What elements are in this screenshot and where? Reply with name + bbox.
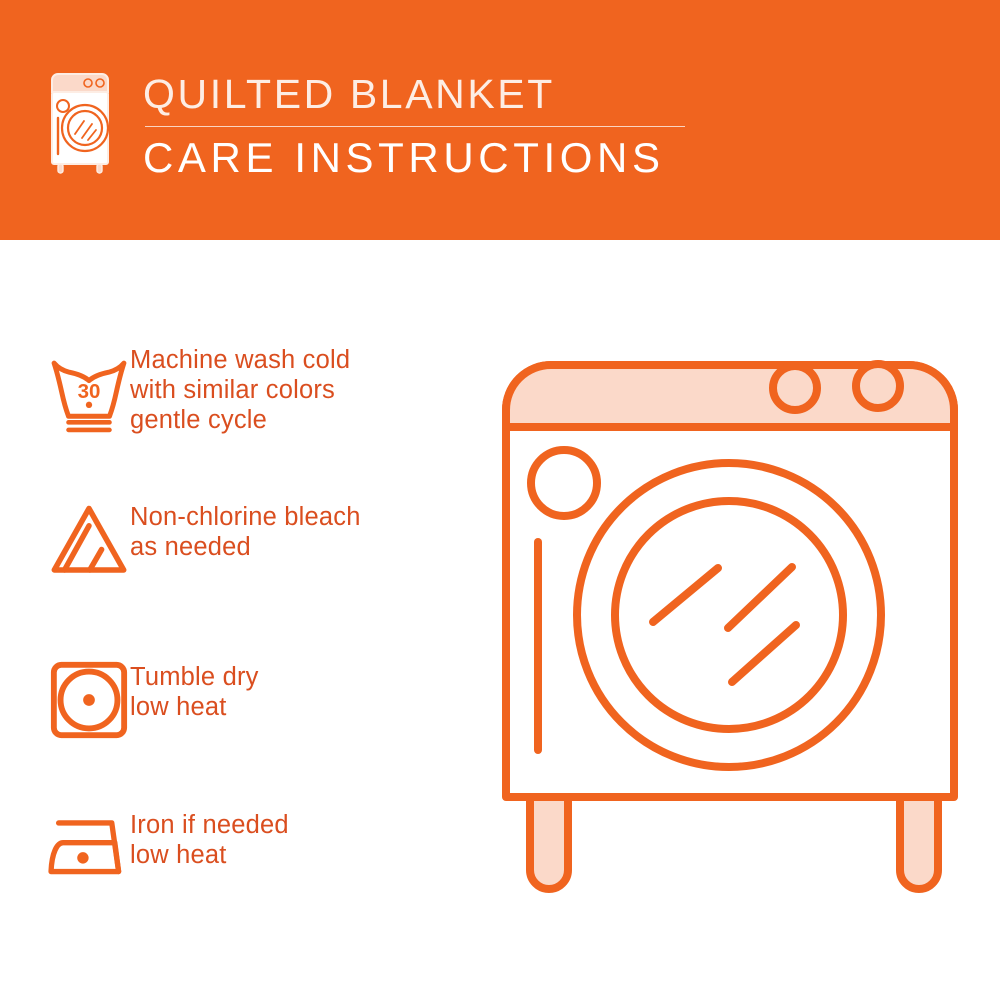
iron-low-heat-icon xyxy=(0,788,130,908)
care-item-bleach-text: Non-chlorine bleach as needed xyxy=(130,480,361,562)
care-text-line: as needed xyxy=(130,532,361,562)
care-item-wash-text: Machine wash cold with similar colors ge… xyxy=(130,335,350,435)
header-banner: QUILTED BLANKET CARE INSTRUCTIONS xyxy=(0,0,1000,240)
care-item-wash: 30 Machine wash cold with similar colors… xyxy=(0,335,480,475)
care-text-line: with similar colors xyxy=(130,375,350,405)
care-text-line: Iron if needed xyxy=(130,810,289,840)
care-text-line: Non-chlorine bleach xyxy=(130,502,361,532)
title-divider xyxy=(145,126,685,127)
care-text-line: low heat xyxy=(130,840,289,870)
leg xyxy=(900,797,938,889)
care-text-line: low heat xyxy=(130,692,259,722)
care-item-tumble-dry-text: Tumble dry low heat xyxy=(130,640,259,722)
page-title: QUILTED BLANKET xyxy=(143,70,703,118)
leg xyxy=(530,797,568,889)
care-instruction-list: 30 Machine wash cold with similar colors… xyxy=(0,240,480,1000)
care-item-iron: Iron if needed low heat xyxy=(0,788,480,928)
tumble-dry-low-heat-icon xyxy=(0,640,130,760)
wash-temperature-label: 30 xyxy=(78,380,101,403)
page-subtitle: CARE INSTRUCTIONS xyxy=(143,133,703,183)
care-text-line: Tumble dry xyxy=(130,662,259,692)
care-item-iron-text: Iron if needed low heat xyxy=(130,788,289,870)
washing-machine-icon xyxy=(44,66,116,176)
front-load-washing-machine-illustration xyxy=(480,320,980,940)
care-text-line: Machine wash cold xyxy=(130,345,350,375)
care-instructions-infographic: QUILTED BLANKET CARE INSTRUCTIONS 30 xyxy=(0,0,1000,1000)
header-title-group: QUILTED BLANKET CARE INSTRUCTIONS xyxy=(143,70,703,183)
knob xyxy=(773,366,817,410)
wash-tub-30-gentle-icon: 30 xyxy=(0,335,130,455)
care-item-tumble-dry: Tumble dry low heat xyxy=(0,640,480,780)
non-chlorine-bleach-triangle-icon xyxy=(0,480,130,600)
care-text-line: gentle cycle xyxy=(130,405,350,435)
care-item-bleach: Non-chlorine bleach as needed xyxy=(0,480,480,620)
knob xyxy=(856,364,900,408)
